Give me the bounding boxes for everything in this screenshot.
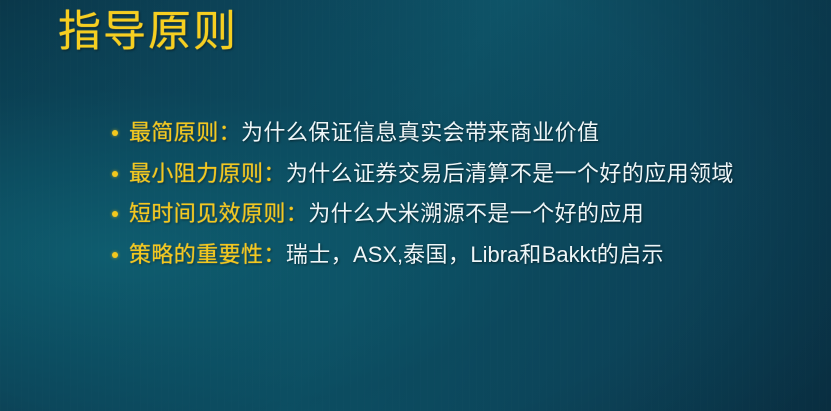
bullet-item-3-lead: 短时间见效原则：	[129, 201, 308, 226]
bullet-item-2-lead: 最小阻力原则：	[129, 161, 286, 186]
bullet-item-4-lead: 策略的重要性：	[129, 242, 286, 267]
bullet-list: 最简原则：为什么保证信息真实会带来商业价值 最小阻力原则：为什么证券交易后清算不…	[112, 117, 772, 280]
bullet-item-1: 最简原则：为什么保证信息真实会带来商业价值	[112, 117, 772, 149]
bullet-item-4-rest-3: 和	[519, 242, 541, 267]
bullet-item-4-rest-4: 的启示	[597, 242, 664, 267]
bullet-dot-icon	[112, 211, 118, 217]
slide-title: 指导原则	[58, 9, 238, 57]
bullet-item-4-text: 策略的重要性：瑞士，ASX,泰国，Libra和Bakkt的启示	[129, 239, 772, 271]
bullet-item-3: 短时间见效原则：为什么大米溯源不是一个好的应用	[112, 198, 772, 230]
bullet-item-4-rest-bakkt: Bakkt	[542, 242, 597, 267]
bullet-item-4: 策略的重要性：瑞士，ASX,泰国，Libra和Bakkt的启示	[112, 239, 772, 271]
bullet-item-3-text: 短时间见效原则：为什么大米溯源不是一个好的应用	[129, 198, 772, 230]
bullet-item-4-rest-1: 瑞士，	[286, 242, 353, 267]
slide-canvas: 指导原则 最简原则：为什么保证信息真实会带来商业价值 最小阻力原则：为什么证券交…	[0, 0, 831, 411]
bullet-item-4-rest-2: 泰国，	[403, 242, 470, 267]
bullet-item-1-lead: 最简原则：	[129, 120, 241, 145]
bullet-dot-icon	[112, 171, 118, 177]
bullet-item-4-rest-libra: Libra	[470, 242, 519, 267]
bullet-item-1-rest: 为什么保证信息真实会带来商业价值	[241, 120, 599, 145]
bullet-item-3-rest: 为什么大米溯源不是一个好的应用	[308, 201, 644, 226]
bullet-item-2: 最小阻力原则：为什么证券交易后清算不是一个好的应用领域	[112, 158, 772, 190]
bullet-dot-icon	[112, 252, 118, 258]
bullet-item-2-text: 最小阻力原则：为什么证券交易后清算不是一个好的应用领域	[129, 158, 772, 190]
bullet-item-4-rest-asx: ASX,	[353, 242, 403, 267]
bullet-dot-icon	[112, 130, 118, 136]
bullet-item-1-text: 最简原则：为什么保证信息真实会带来商业价值	[129, 117, 772, 149]
bullet-item-2-rest: 为什么证券交易后清算不是一个好的应用领域	[286, 161, 734, 186]
